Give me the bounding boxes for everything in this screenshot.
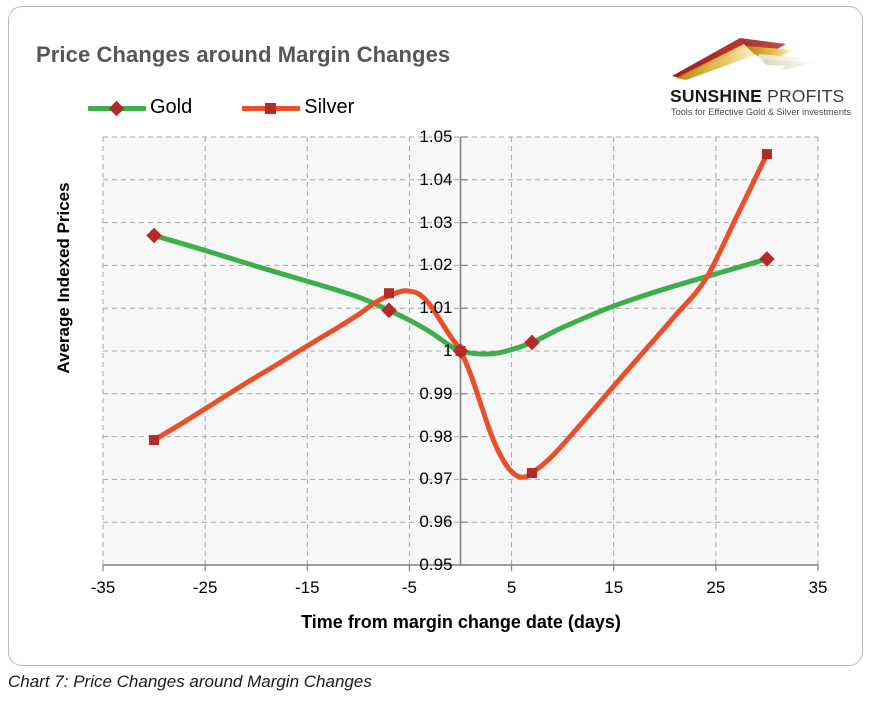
y-tick-label: 1.04 — [383, 170, 453, 190]
x-tick-label: 15 — [604, 578, 623, 598]
x-tick-label: 25 — [706, 578, 725, 598]
y-tick-label: 1.02 — [383, 255, 453, 275]
data-point-marker-silver — [762, 149, 772, 159]
data-point-marker-silver — [456, 346, 466, 356]
data-point-marker-silver — [384, 288, 394, 298]
x-tick-label: -5 — [402, 578, 417, 598]
y-tick-label: 1.03 — [383, 213, 453, 233]
x-tick-label: 5 — [507, 578, 516, 598]
y-tick-label: 1.01 — [383, 298, 453, 318]
x-tick-label: 35 — [809, 578, 828, 598]
y-tick-label: 1.05 — [383, 127, 453, 147]
chart-plot-area: Average Indexed Prices Time from margin … — [0, 0, 875, 700]
y-tick-label: 0.96 — [383, 512, 453, 532]
y-axis-title: Average Indexed Prices — [54, 178, 74, 378]
y-tick-label: 0.95 — [383, 555, 453, 575]
x-axis-title: Time from margin change date (days) — [103, 612, 819, 633]
y-tick-label: 0.98 — [383, 427, 453, 447]
y-tick-label: 1 — [383, 341, 453, 361]
figure-caption: Chart 7: Price Changes around Margin Cha… — [8, 672, 372, 692]
x-tick-label: -35 — [91, 578, 116, 598]
x-tick-label: -15 — [295, 578, 320, 598]
data-point-marker-silver — [149, 435, 159, 445]
y-tick-label: 0.97 — [383, 469, 453, 489]
x-tick-label: -25 — [193, 578, 218, 598]
y-tick-label: 0.99 — [383, 384, 453, 404]
data-point-marker-silver — [527, 468, 537, 478]
